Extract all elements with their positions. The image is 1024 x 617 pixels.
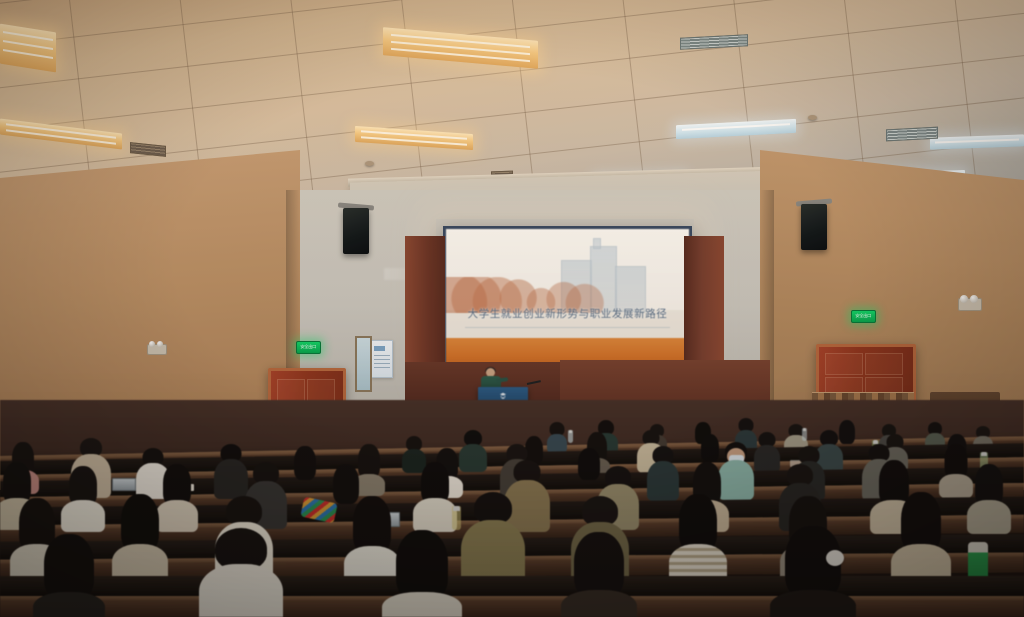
wall-notice-poster bbox=[371, 340, 393, 378]
list-item bbox=[942, 444, 970, 496]
list-item bbox=[972, 464, 1006, 530]
list-item bbox=[418, 462, 452, 528]
list-item bbox=[40, 534, 98, 617]
exit-sign-right-text: 安全出口 bbox=[856, 314, 872, 318]
exit-sign-right: 安全出口 bbox=[851, 310, 876, 323]
list-item bbox=[218, 444, 244, 494]
exit-sign-left: 安全出口 bbox=[296, 341, 321, 354]
projection-screen: 大学生就业创业新形势与职业发展新路径 bbox=[443, 226, 692, 372]
list-item bbox=[292, 446, 318, 494]
list-item bbox=[676, 494, 720, 580]
seated-audience bbox=[0, 400, 1024, 617]
water-bottle bbox=[568, 430, 573, 443]
exit-sign-left-text: 安全出口 bbox=[301, 345, 317, 349]
list-item bbox=[650, 446, 676, 496]
laptop bbox=[112, 478, 136, 491]
slide-divider bbox=[465, 327, 669, 328]
list-item bbox=[392, 530, 452, 617]
smoke-detector-left bbox=[365, 161, 374, 166]
stage-curtain-right bbox=[684, 236, 724, 372]
list-item bbox=[462, 430, 484, 470]
list-item bbox=[470, 492, 516, 580]
list-item bbox=[756, 432, 778, 472]
list-item bbox=[780, 526, 846, 617]
list-item bbox=[210, 528, 272, 617]
projected-slide: 大学生就业创业新形势与职业发展新路径 bbox=[446, 229, 689, 369]
emergency-twin-spot-light bbox=[958, 298, 982, 311]
emergency-light-left bbox=[147, 344, 167, 355]
list-item bbox=[160, 464, 194, 528]
wall-speaker-right bbox=[801, 204, 827, 250]
desk-row bbox=[0, 596, 1024, 617]
slide-title: 大学生就业创业新形势与职业发展新路径 bbox=[446, 306, 689, 321]
wall-panel-left bbox=[355, 336, 372, 392]
water-bottle bbox=[802, 428, 807, 441]
list-item bbox=[722, 442, 750, 496]
list-item bbox=[66, 466, 100, 528]
wall-speaker-left bbox=[343, 208, 369, 254]
list-item bbox=[576, 448, 602, 496]
list-item bbox=[570, 532, 628, 617]
list-item bbox=[898, 492, 944, 580]
list-item bbox=[350, 496, 394, 580]
list-item bbox=[118, 494, 162, 578]
water-bottle bbox=[452, 506, 461, 530]
stage-curtain-left bbox=[405, 236, 445, 372]
hair-scrunchie bbox=[826, 550, 844, 566]
list-item bbox=[548, 422, 566, 452]
smoke-detector-right bbox=[808, 115, 817, 120]
auditorium-photo: 大学生就业创业新形势与职业发展新路径 广东科技职业学院 安全出口 安全出口 bbox=[0, 0, 1024, 617]
